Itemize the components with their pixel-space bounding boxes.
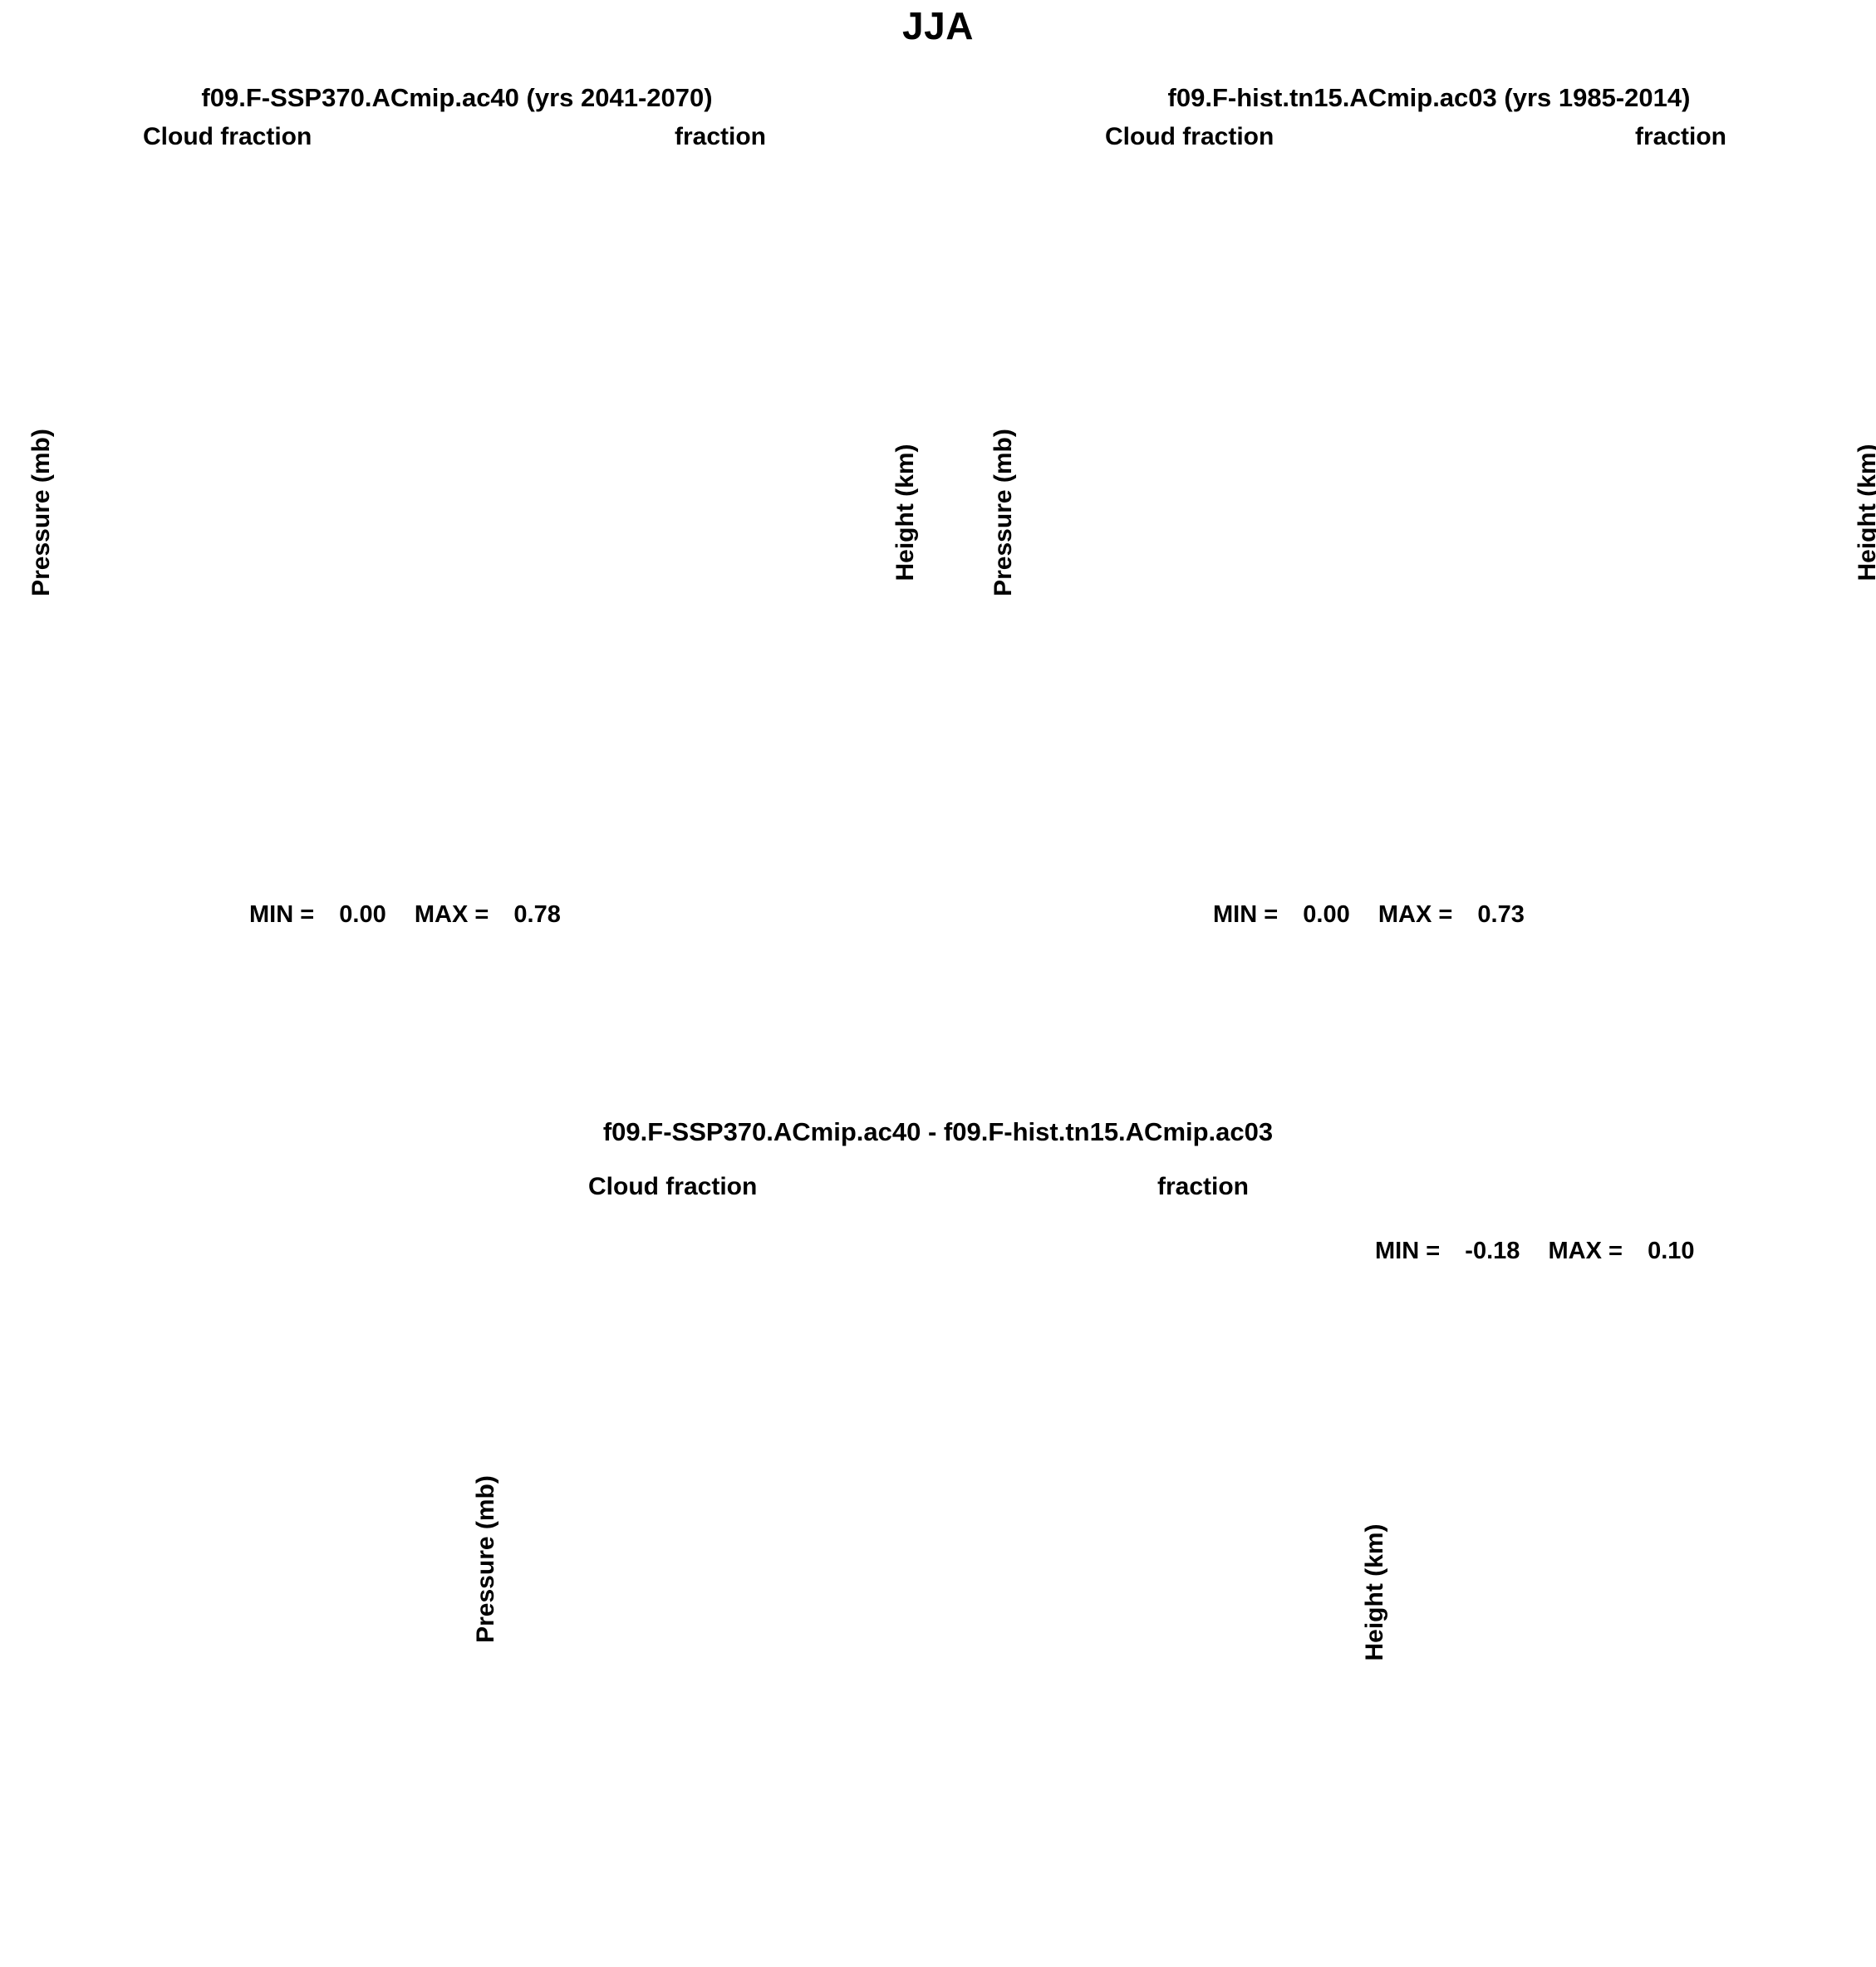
plot-canvas — [0, 0, 1876, 1967]
figure-root: JJA f09.F-SSP370.ACmip.ac40 (yrs 2041-20… — [0, 0, 1876, 1967]
